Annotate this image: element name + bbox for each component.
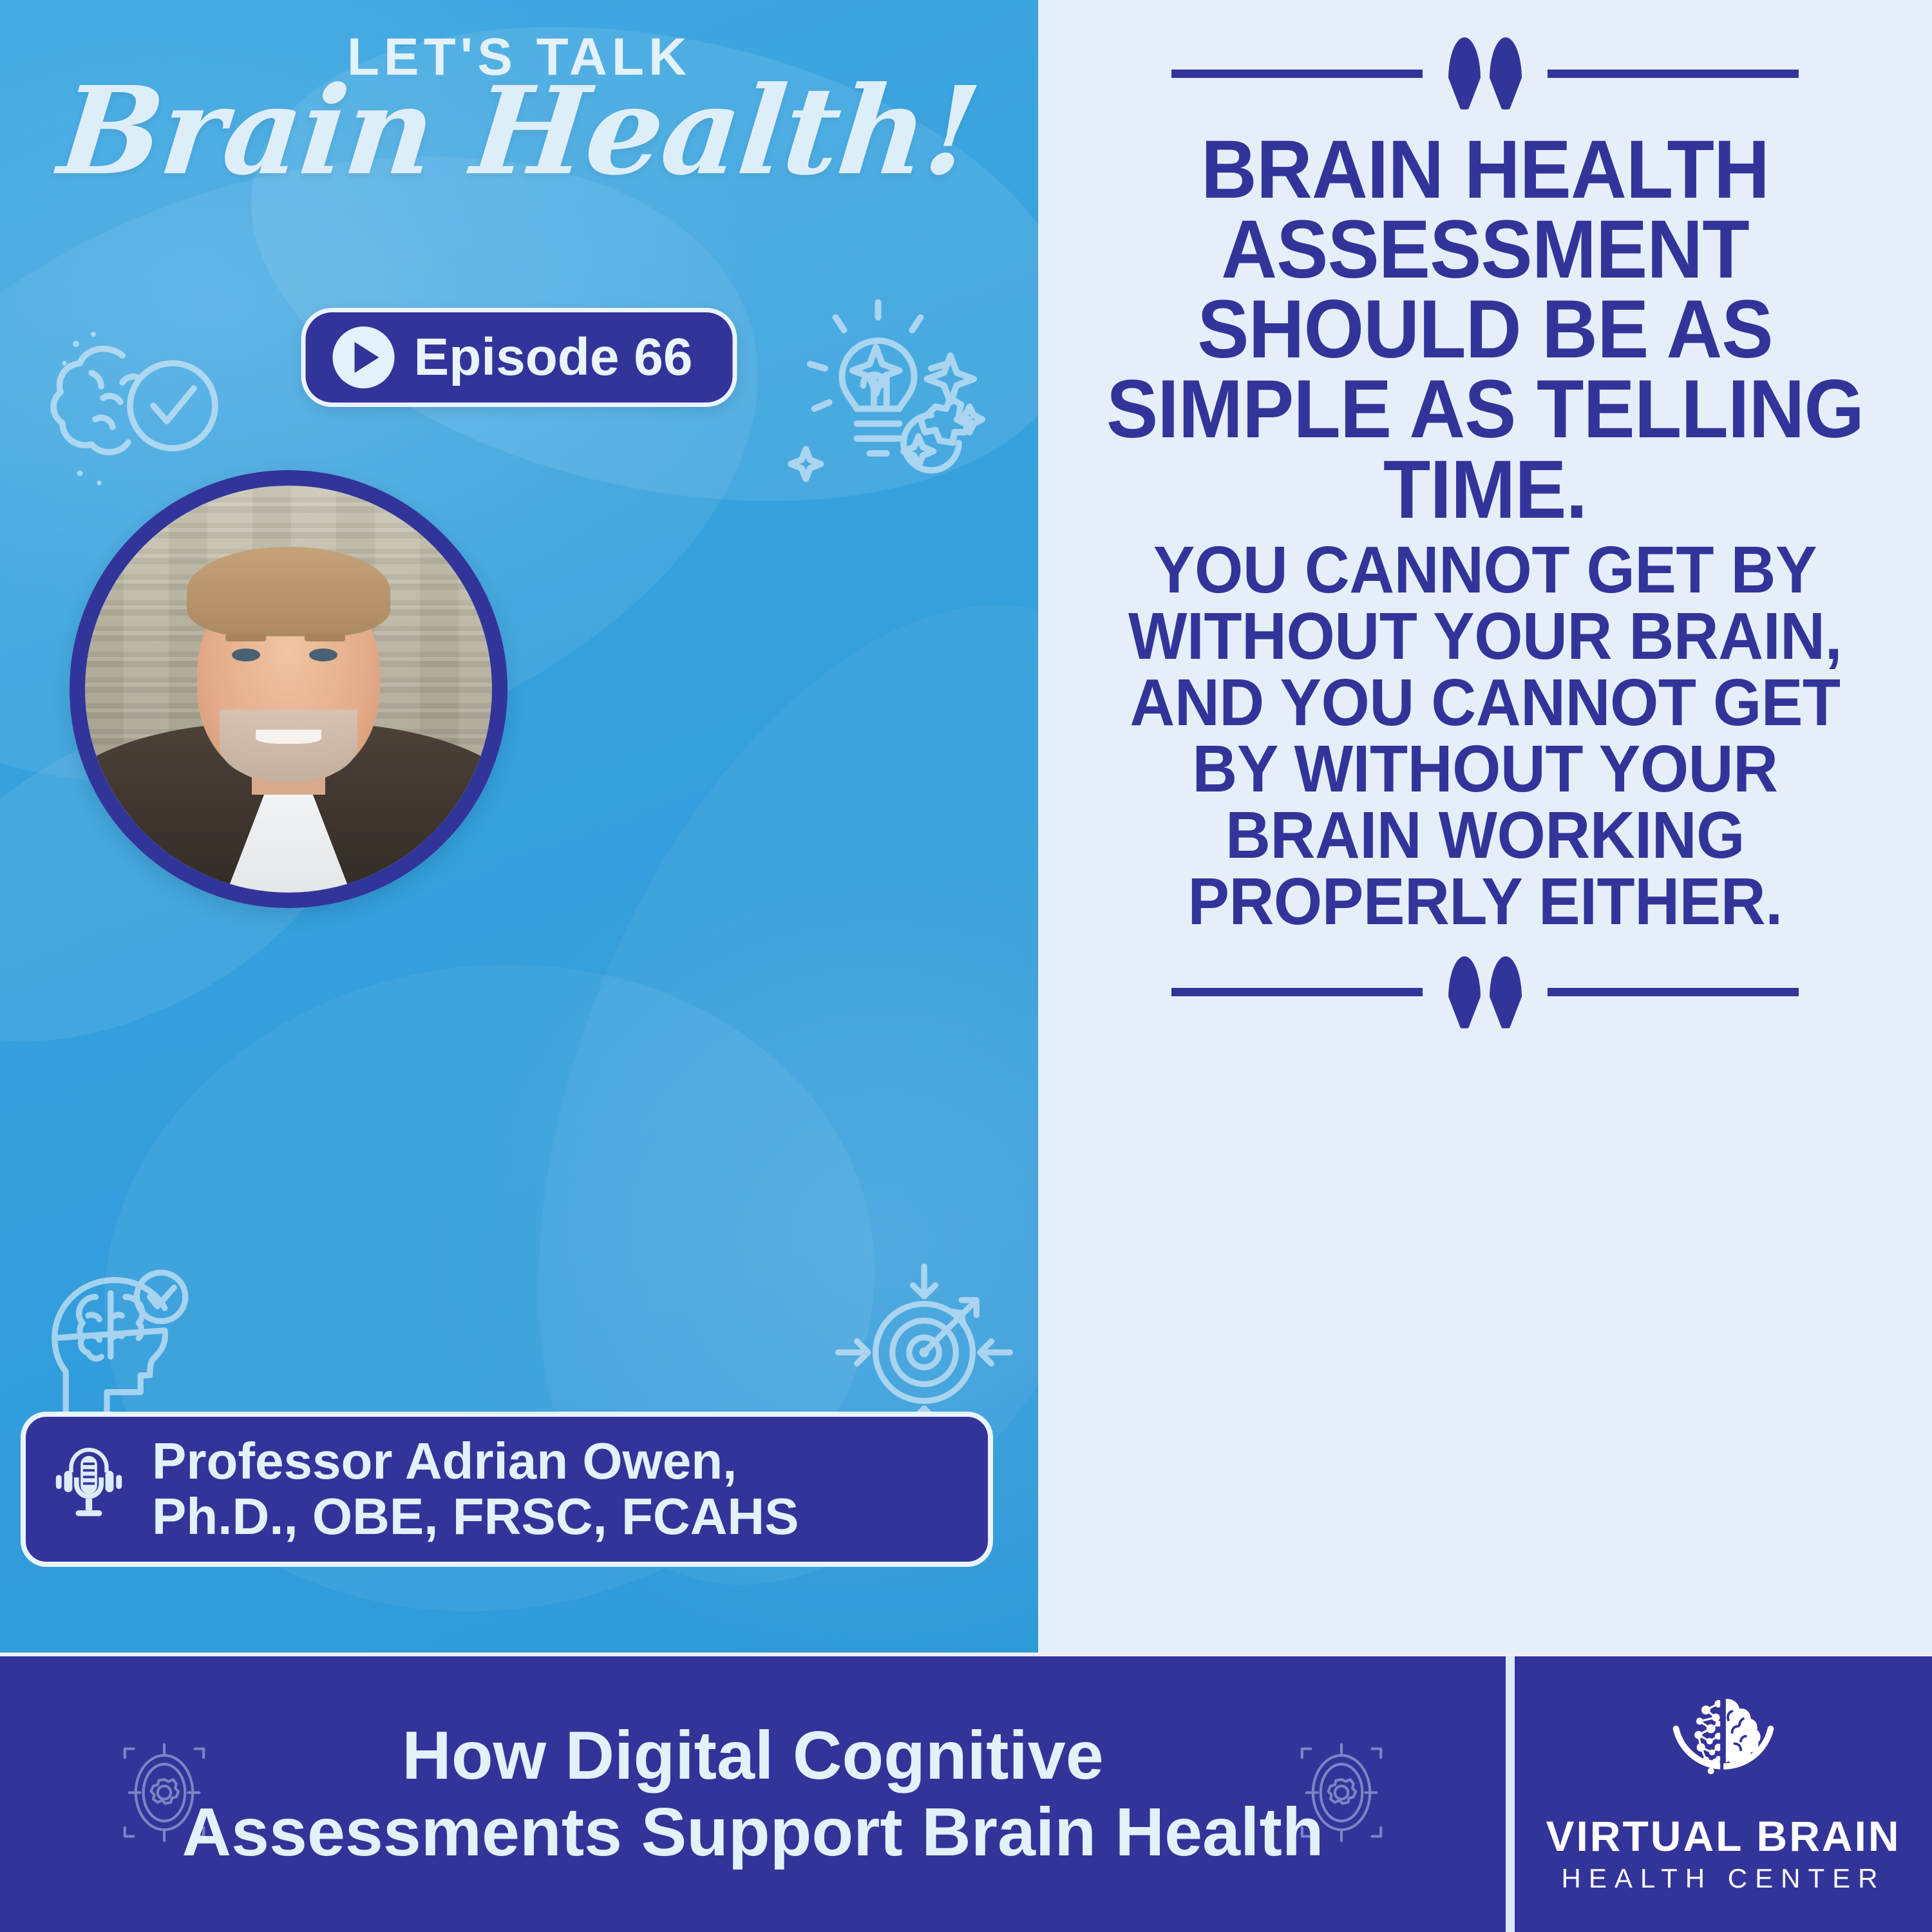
- brain-check-icon: [33, 309, 227, 502]
- quote-panel: BRAIN HEALTH ASSESSMENT SHOULD BE AS SIM…: [1038, 0, 1932, 1656]
- speaker-name-line1: Professor Adrian Owen,: [152, 1432, 737, 1490]
- divider-rule: [1548, 70, 1799, 78]
- lightbulb-idea-gear-icon: [782, 283, 995, 496]
- show-title: Brain Health!: [0, 68, 1038, 194]
- quote-close-divider: [1068, 956, 1902, 1028]
- divider-rule: [1171, 70, 1423, 78]
- quote-open-divider: [1068, 37, 1902, 109]
- guest-portrait: [70, 470, 507, 908]
- footer-bar: How Digital Cognitive Assessments Suppor…: [0, 1656, 1932, 1932]
- episode-title: How Digital Cognitive Assessments Suppor…: [182, 1718, 1323, 1870]
- left-panel: LET'S TALK Brain Health!: [0, 0, 1038, 1656]
- logo-tagline: HEALTH CENTER: [1562, 1865, 1886, 1892]
- quote-close-icon: [1448, 956, 1522, 1028]
- episode-title-line1: How Digital Cognitive: [402, 1718, 1103, 1794]
- brand-logo: VIRTUAL BRAIN HEALTH CENTER: [1515, 1656, 1932, 1932]
- podcast-episode-graphic: LET'S TALK Brain Health!: [0, 0, 1932, 1932]
- divider-rule: [1171, 988, 1423, 996]
- quote-open-icon: [1448, 37, 1522, 109]
- speaker-name-bar: Professor Adrian Owen, Ph.D., OBE, FRSC,…: [21, 1412, 993, 1567]
- logo-name: VIRTUAL BRAIN: [1546, 1815, 1900, 1857]
- episode-badge[interactable]: Episode 66: [301, 308, 737, 407]
- portrait-photo: [85, 486, 492, 893]
- play-icon: [333, 327, 395, 388]
- speaker-name-line2: Ph.D., OBE, FRSC, FCAHS: [152, 1488, 799, 1545]
- footer-divider: [1506, 1656, 1515, 1932]
- microphone-headphones-icon: [48, 1448, 130, 1530]
- speaker-name: Professor Adrian Owen, Ph.D., OBE, FRSC,…: [152, 1434, 799, 1545]
- divider-rule: [1548, 988, 1799, 996]
- virtual-brain-logo-icon: [1660, 1696, 1786, 1811]
- episode-label: Episode 66: [414, 327, 693, 388]
- episode-title-line2: Assessments Support Brain Health: [182, 1794, 1323, 1870]
- episode-title-section: How Digital Cognitive Assessments Suppor…: [0, 1656, 1506, 1932]
- quote-headline: BRAIN HEALTH ASSESSMENT SHOULD BE AS SIM…: [1093, 130, 1877, 530]
- quote-body: YOU CANNOT GET BY WITHOUT YOUR BRAIN, AN…: [1093, 536, 1877, 934]
